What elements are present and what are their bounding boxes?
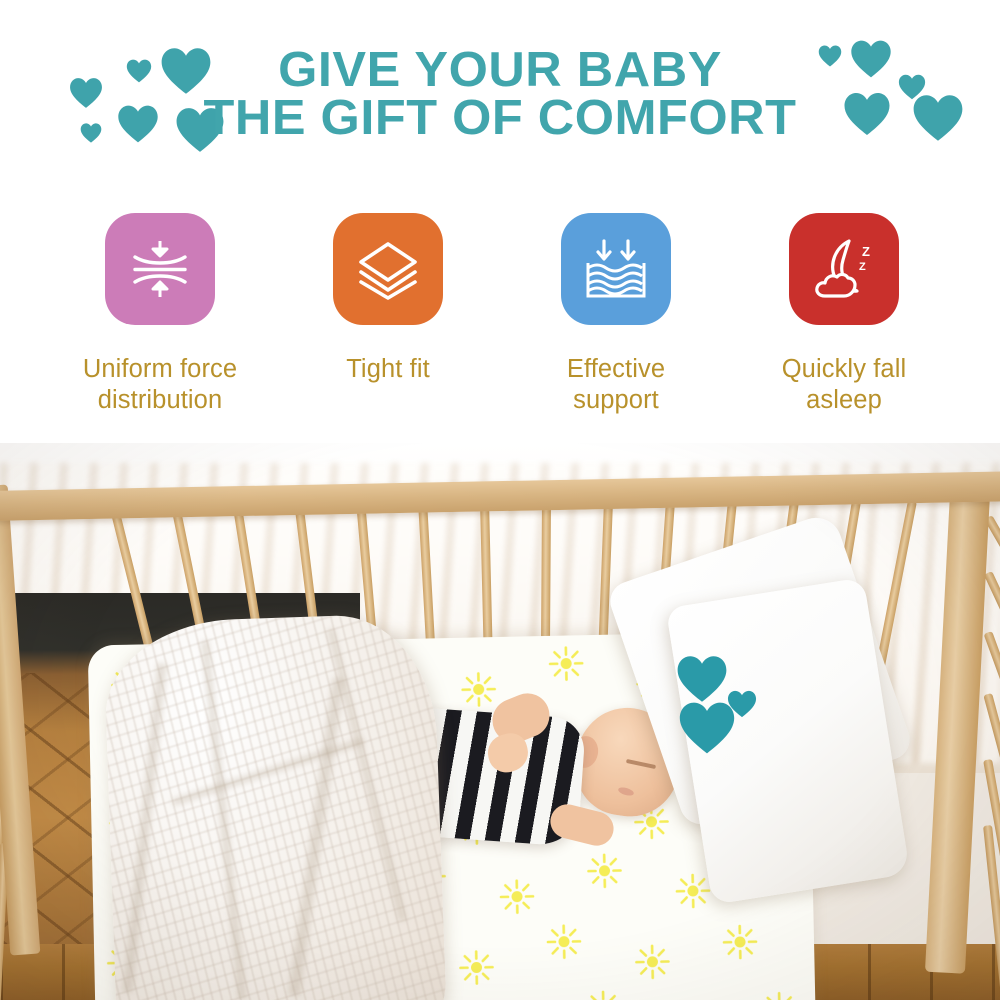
- feature-label: Effective support: [504, 354, 728, 416]
- feature-item-tight-fit: Tight fit: [276, 213, 500, 385]
- stacked-layers-icon: [354, 235, 422, 303]
- svg-text:Z: Z: [862, 244, 870, 259]
- moon-cloud-zzz-icon: Z Z: [809, 234, 879, 304]
- page-title: GIVE YOUR BABY THE GIFT OF COMFORT: [0, 46, 1000, 142]
- feature-tile: Z Z: [789, 213, 899, 325]
- feature-item-effective-support: Effective support: [504, 213, 728, 416]
- headline-line-1: GIVE YOUR BABY: [0, 46, 1000, 94]
- compression-arrows-icon: [126, 235, 194, 303]
- downward-arrows-waves-icon: [581, 234, 651, 304]
- feature-tile: [561, 213, 671, 325]
- headline-line-2: THE GIFT OF COMFORT: [0, 94, 1000, 142]
- heart-icon: [676, 653, 728, 705]
- feature-list: Uniform force distribution: [0, 213, 1000, 428]
- feature-label: Quickly fall asleep: [732, 354, 956, 416]
- feature-label: Tight fit: [276, 354, 500, 385]
- svg-text:Z: Z: [859, 261, 866, 273]
- sherpa-blanket: [103, 612, 447, 1000]
- product-banner: GIVE YOUR BABY THE GIFT OF COMFORT: [0, 0, 1000, 1000]
- feature-tile: [105, 213, 215, 325]
- feature-label: Uniform force distribution: [48, 354, 272, 416]
- product-lifestyle-photo: [0, 443, 1000, 1000]
- top-promo-panel: GIVE YOUR BABY THE GIFT OF COMFORT: [0, 0, 1000, 443]
- heart-icon: [678, 699, 736, 757]
- feature-tile: [333, 213, 443, 325]
- blanket-texture: [103, 612, 447, 1000]
- feature-item-quickly-fall-asleep: Z Z Quickly fall asleep: [732, 213, 956, 416]
- feature-item-uniform-force-distribution: Uniform force distribution: [48, 213, 272, 416]
